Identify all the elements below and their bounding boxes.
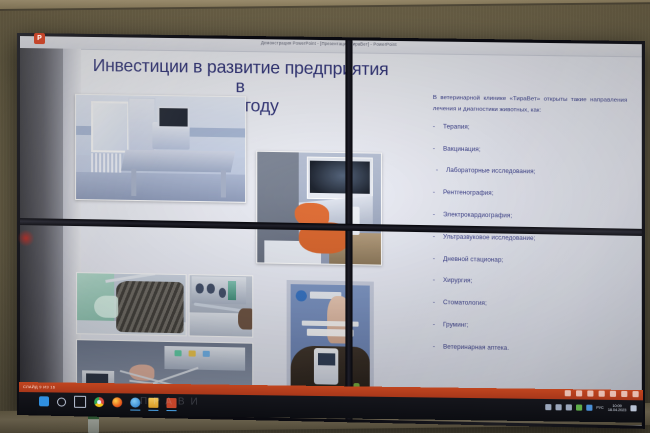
clock[interactable]: 10:09 18.04.2023 — [608, 404, 627, 413]
firefox-icon[interactable] — [112, 397, 122, 407]
slideshow-icon[interactable] — [599, 391, 605, 397]
sound-icon[interactable] — [566, 404, 572, 410]
status-bar-view-controls[interactable] — [565, 390, 639, 397]
zoom-out-icon[interactable] — [621, 391, 627, 397]
slide-counter: СЛАЙД 9 ИЗ 16 — [23, 384, 55, 389]
folder-icon[interactable] — [148, 398, 158, 408]
task-view-icon[interactable] — [74, 396, 86, 408]
sorter-view-icon[interactable] — [576, 390, 582, 396]
powerpoint-icon[interactable] — [166, 398, 176, 408]
clock-date: 18.04.2023 — [608, 408, 627, 412]
chevron-up-icon[interactable] — [545, 404, 551, 410]
network-icon[interactable] — [555, 404, 561, 410]
scene-vignette — [0, 0, 650, 433]
language-indicator[interactable]: РУС — [596, 406, 603, 410]
system-tray: РУС 10:09 18.04.2023 — [545, 403, 637, 413]
grid-icon[interactable] — [610, 391, 616, 397]
windows-start-icon[interactable] — [39, 396, 49, 406]
zoom-in-icon[interactable] — [633, 391, 639, 397]
meeting-room-scene: Демонстрация PowerPoint - [Презентация Т… — [0, 0, 650, 433]
taskbar-icons — [39, 395, 177, 409]
chrome-icon[interactable] — [94, 397, 104, 407]
notification-icon[interactable] — [630, 405, 636, 411]
powerpoint-icon: P — [34, 33, 45, 44]
reading-view-icon[interactable] — [587, 390, 593, 396]
antivirus-icon[interactable] — [586, 405, 592, 411]
shield-icon[interactable] — [576, 405, 582, 411]
search-icon[interactable] — [57, 397, 66, 406]
normal-view-icon[interactable] — [565, 390, 571, 396]
internet-explorer-icon[interactable] — [130, 397, 140, 407]
